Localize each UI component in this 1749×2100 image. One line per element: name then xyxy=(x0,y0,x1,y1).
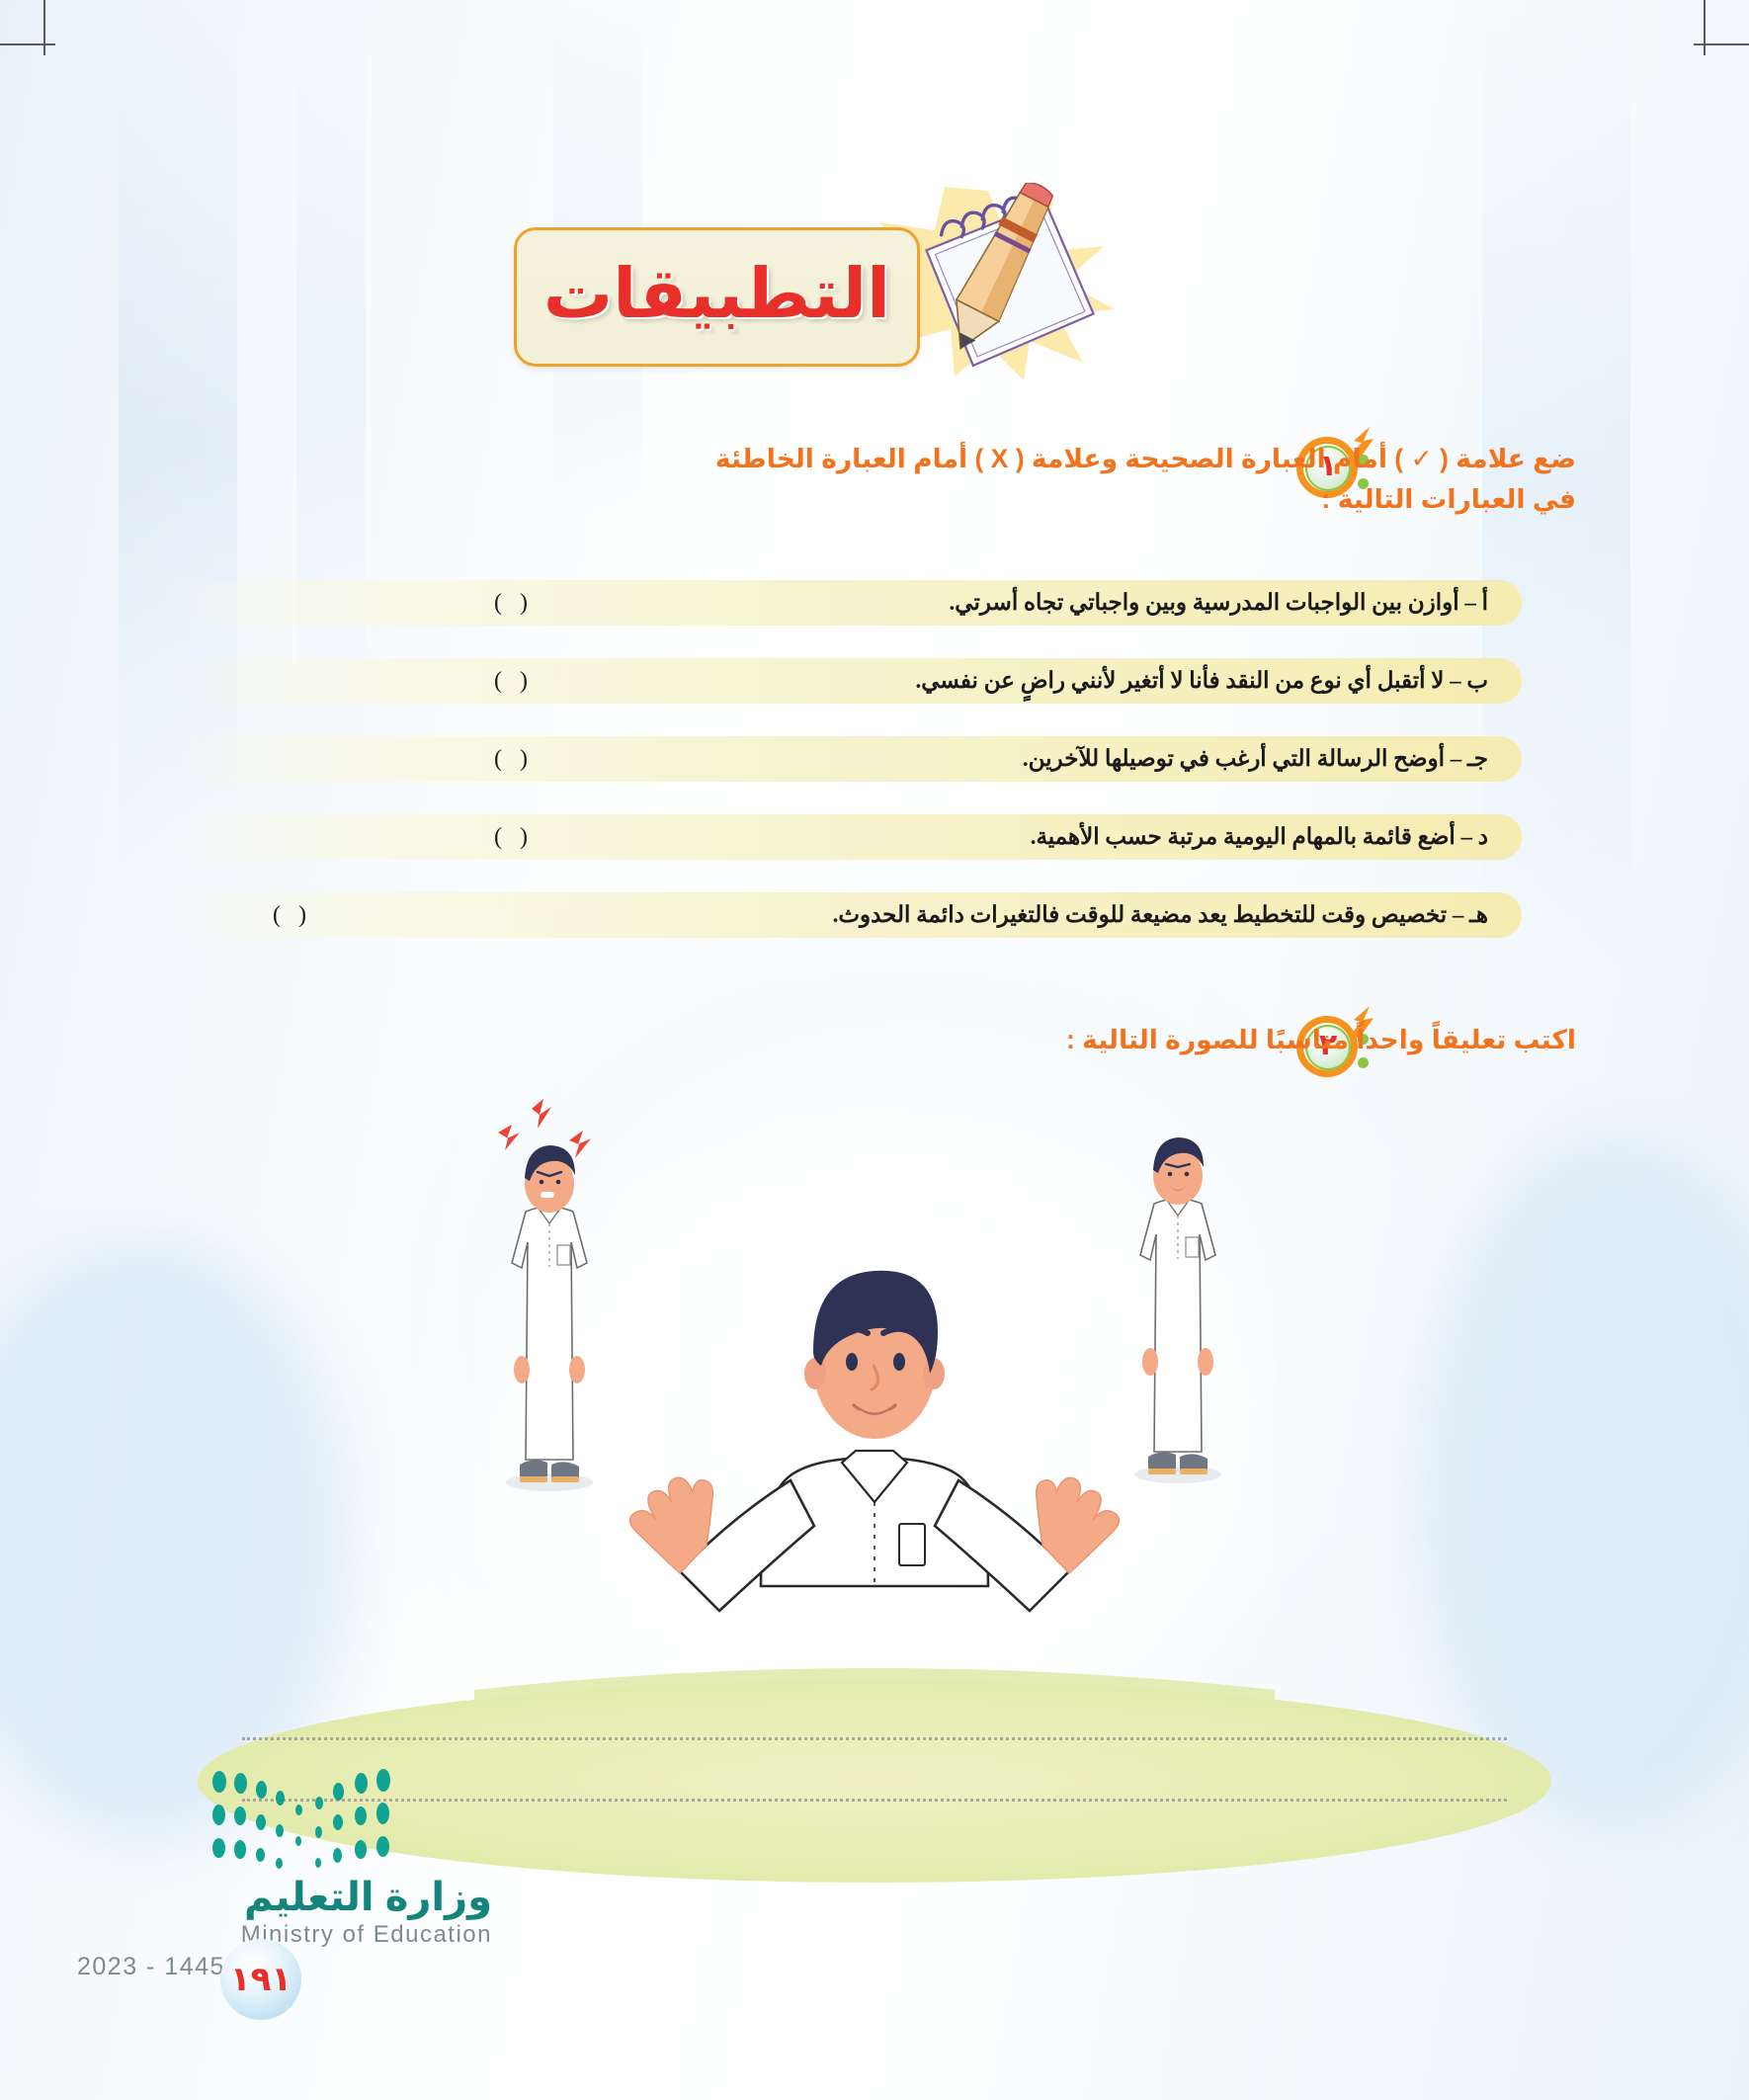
statement-text: جـ – أوضح الرسالة التي أرغب في توصيلها ل… xyxy=(1023,746,1488,772)
illustration-svg xyxy=(474,1097,1275,1729)
statement-text: ب – لا أتقبل أي نوع من النقد فأنا لا أتغ… xyxy=(915,668,1488,694)
answer-line[interactable] xyxy=(242,1737,1507,1740)
answer-parentheses[interactable]: ( ) xyxy=(494,746,534,773)
statement-row[interactable]: أ – أوازن بين الواجبات المدرسية وبين واج… xyxy=(168,580,1522,626)
statement-row[interactable]: ب – لا أتقبل أي نوع من النقد فأنا لا أتغ… xyxy=(168,658,1522,704)
statement-text: د – أضع قائمة بالمهام اليومية مرتبة حسب … xyxy=(1031,824,1488,850)
statement-text: هـ – تخصيص وقت للتخطيط يعد مضيعة للوقت ف… xyxy=(833,902,1488,928)
ministry-name-ar: وزارة التعليم xyxy=(77,1878,492,1917)
statement-row[interactable]: جـ – أوضح الرسالة التي أرغب في توصيلها ل… xyxy=(168,736,1522,782)
question-1-text: ضع علامة ( ✓ ) أمام العبارة الصحيحة وعلا… xyxy=(385,439,1576,520)
answer-parentheses[interactable]: ( ) xyxy=(494,590,534,617)
answer-parentheses[interactable]: ( ) xyxy=(273,902,312,929)
question-2-line-1: اكتب تعليقاً واحداً مناسبًا للصورة التال… xyxy=(385,1020,1576,1060)
answer-parentheses[interactable]: ( ) xyxy=(494,824,534,851)
page-title: التطبيقات xyxy=(543,253,890,334)
title-banner: التطبيقات xyxy=(504,183,1196,366)
crop-mark xyxy=(1704,0,1706,55)
question-2-text: اكتب تعليقاً واحداً مناسبًا للصورة التال… xyxy=(385,1020,1576,1060)
crop-mark xyxy=(1694,43,1749,45)
footer: وزارة التعليم Ministry of Education 2023… xyxy=(77,1878,492,2026)
crop-mark xyxy=(43,0,45,55)
statement-row[interactable]: هـ – تخصيص وقت للتخطيط يعد مضيعة للوقت ف… xyxy=(168,892,1522,938)
statement-text: أ – أوازن بين الواجبات المدرسية وبين واج… xyxy=(950,590,1488,616)
ministry-name-en: Ministry of Education xyxy=(77,1923,492,1947)
decorative-dots xyxy=(212,1769,479,1878)
question-1-line-1: ضع علامة ( ✓ ) أمام العبارة الصحيحة وعلا… xyxy=(385,439,1576,479)
question-1-line-2: في العبارات التالية : xyxy=(385,479,1576,520)
answer-parentheses[interactable]: ( ) xyxy=(494,668,534,695)
illustration-three-people xyxy=(474,1097,1275,1729)
crop-mark xyxy=(0,43,55,45)
background-streak xyxy=(296,0,366,751)
title-box: التطبيقات xyxy=(514,227,920,367)
statement-row[interactable]: د – أضع قائمة بالمهام اليومية مرتبة حسب … xyxy=(168,814,1522,860)
page-number-badge: ١٩١ xyxy=(220,1939,301,2020)
page-number: ١٩١ xyxy=(230,1963,291,1996)
